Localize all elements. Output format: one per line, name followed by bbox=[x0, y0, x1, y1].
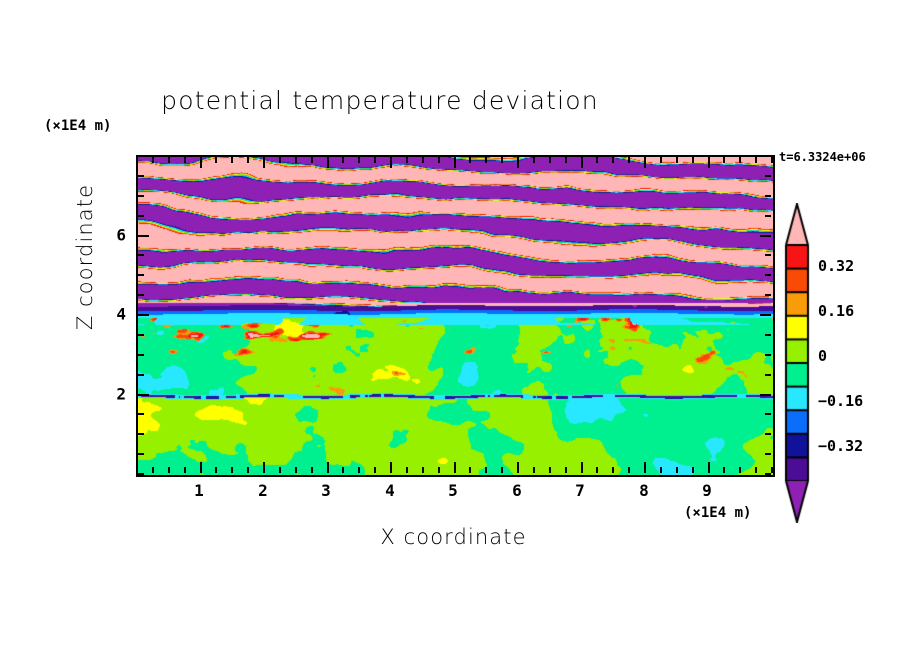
y-tick-major bbox=[760, 235, 771, 237]
x-tick-major bbox=[200, 157, 202, 168]
x-tick-minor bbox=[533, 157, 535, 163]
x-tick-major bbox=[327, 157, 329, 168]
colorbar-gradient bbox=[783, 203, 823, 523]
y-axis-unit-label: (×1E4 m) bbox=[44, 118, 111, 134]
x-tick-minor bbox=[279, 157, 281, 163]
x-tick-minor bbox=[723, 157, 725, 163]
x-tick-minor bbox=[612, 157, 614, 163]
x-tick-minor bbox=[168, 467, 170, 473]
y-tick-minor bbox=[138, 274, 144, 276]
x-tick-label: 2 bbox=[258, 481, 268, 500]
x-tick-minor bbox=[152, 157, 154, 163]
x-tick-major bbox=[517, 462, 519, 473]
x-tick-minor bbox=[406, 467, 408, 473]
x-tick-minor bbox=[628, 157, 630, 163]
x-tick-minor bbox=[676, 467, 678, 473]
x-tick-minor bbox=[152, 467, 154, 473]
x-tick-minor bbox=[184, 467, 186, 473]
x-tick-minor bbox=[660, 157, 662, 163]
x-tick-minor bbox=[692, 467, 694, 473]
x-tick-minor bbox=[676, 157, 678, 163]
x-tick-minor bbox=[501, 157, 503, 163]
x-tick-major bbox=[708, 462, 710, 473]
x-tick-minor bbox=[485, 467, 487, 473]
x-tick-minor bbox=[215, 467, 217, 473]
x-tick-label: 4 bbox=[385, 481, 395, 500]
y-tick-label: 6 bbox=[108, 226, 126, 245]
x-tick-minor bbox=[739, 157, 741, 163]
y-tick-major bbox=[760, 314, 771, 316]
x-tick-minor bbox=[231, 467, 233, 473]
y-tick-minor bbox=[765, 413, 771, 415]
y-tick-major bbox=[138, 314, 149, 316]
x-tick-minor bbox=[501, 467, 503, 473]
x-tick-minor bbox=[565, 467, 567, 473]
x-tick-major bbox=[708, 157, 710, 168]
y-tick-minor bbox=[765, 254, 771, 256]
x-tick-minor bbox=[565, 157, 567, 163]
x-tick-minor bbox=[422, 467, 424, 473]
x-tick-major bbox=[390, 157, 392, 168]
x-tick-label: 3 bbox=[321, 481, 331, 500]
x-tick-major bbox=[644, 157, 646, 168]
y-tick-minor bbox=[138, 354, 144, 356]
x-tick-minor bbox=[755, 467, 757, 473]
colorbar-tick-label: 0.16 bbox=[818, 302, 854, 320]
x-tick-minor bbox=[295, 157, 297, 163]
x-tick-major bbox=[644, 462, 646, 473]
x-tick-minor bbox=[692, 157, 694, 163]
x-axis-title: X coordinate bbox=[136, 525, 771, 549]
x-tick-minor bbox=[771, 157, 773, 163]
x-tick-minor bbox=[612, 467, 614, 473]
x-tick-minor bbox=[295, 467, 297, 473]
x-tick-minor bbox=[374, 467, 376, 473]
y-tick-minor bbox=[138, 215, 144, 217]
x-tick-minor bbox=[723, 467, 725, 473]
x-tick-minor bbox=[596, 157, 598, 163]
y-tick-minor bbox=[138, 374, 144, 376]
page-title: potential temperature deviation bbox=[0, 86, 760, 115]
y-tick-minor bbox=[138, 195, 144, 197]
x-tick-minor bbox=[771, 467, 773, 473]
x-tick-label: 9 bbox=[702, 481, 712, 500]
x-tick-minor bbox=[549, 467, 551, 473]
y-tick-major bbox=[138, 235, 149, 237]
x-tick-label: 5 bbox=[448, 481, 458, 500]
x-tick-minor bbox=[231, 157, 233, 163]
y-tick-label: 2 bbox=[108, 385, 126, 404]
y-tick-minor bbox=[765, 433, 771, 435]
x-tick-label: 7 bbox=[575, 481, 585, 500]
x-tick-minor bbox=[374, 157, 376, 163]
y-tick-minor bbox=[138, 155, 144, 157]
x-tick-minor bbox=[596, 467, 598, 473]
x-tick-minor bbox=[358, 467, 360, 473]
x-tick-minor bbox=[406, 157, 408, 163]
x-tick-minor bbox=[311, 157, 313, 163]
x-tick-major bbox=[581, 462, 583, 473]
x-tick-major bbox=[263, 157, 265, 168]
x-tick-minor bbox=[358, 157, 360, 163]
colorbar-tick-label: −0.16 bbox=[818, 392, 863, 410]
y-axis-title: Z coordinate bbox=[73, 157, 97, 357]
x-tick-minor bbox=[755, 157, 757, 163]
y-tick-minor bbox=[765, 294, 771, 296]
x-axis-unit-label: (×1E4 m) bbox=[684, 505, 751, 521]
x-tick-minor bbox=[485, 157, 487, 163]
x-tick-minor bbox=[739, 467, 741, 473]
x-tick-minor bbox=[247, 157, 249, 163]
time-stamp-label: t=6.3324e+06 bbox=[779, 150, 866, 164]
y-tick-minor bbox=[765, 473, 771, 475]
x-tick-minor bbox=[438, 157, 440, 163]
x-tick-minor bbox=[215, 157, 217, 163]
x-tick-label: 6 bbox=[512, 481, 522, 500]
x-tick-minor bbox=[660, 467, 662, 473]
colorbar bbox=[783, 203, 823, 527]
y-tick-minor bbox=[765, 354, 771, 356]
contour-plot-figure: potential temperature deviation (×1E4 m)… bbox=[0, 0, 904, 654]
colorbar-tick-label: 0 bbox=[818, 347, 827, 365]
y-tick-minor bbox=[138, 433, 144, 435]
y-tick-major bbox=[760, 394, 771, 396]
x-tick-label: 1 bbox=[194, 481, 204, 500]
x-tick-minor bbox=[549, 157, 551, 163]
x-tick-minor bbox=[311, 467, 313, 473]
x-tick-minor bbox=[168, 157, 170, 163]
y-tick-minor bbox=[138, 473, 144, 475]
x-tick-minor bbox=[342, 467, 344, 473]
colorbar-tick-label: 0.32 bbox=[818, 257, 854, 275]
x-tick-minor bbox=[438, 467, 440, 473]
colorbar-tick-label: −0.32 bbox=[818, 437, 863, 455]
y-tick-minor bbox=[765, 175, 771, 177]
y-tick-minor bbox=[138, 254, 144, 256]
x-tick-label: 8 bbox=[639, 481, 649, 500]
y-tick-major bbox=[138, 394, 149, 396]
x-tick-minor bbox=[247, 467, 249, 473]
x-tick-minor bbox=[136, 157, 138, 163]
x-tick-major bbox=[327, 462, 329, 473]
x-tick-major bbox=[454, 157, 456, 168]
y-tick-minor bbox=[765, 453, 771, 455]
x-tick-minor bbox=[628, 467, 630, 473]
plot-area bbox=[136, 155, 775, 477]
x-tick-minor bbox=[184, 157, 186, 163]
y-tick-minor bbox=[765, 274, 771, 276]
y-tick-minor bbox=[138, 413, 144, 415]
y-tick-minor bbox=[765, 334, 771, 336]
contour-field bbox=[138, 157, 773, 475]
x-tick-major bbox=[390, 462, 392, 473]
y-tick-minor bbox=[138, 334, 144, 336]
x-tick-minor bbox=[533, 467, 535, 473]
x-tick-minor bbox=[469, 467, 471, 473]
y-tick-minor bbox=[138, 294, 144, 296]
y-tick-minor bbox=[765, 195, 771, 197]
y-tick-minor bbox=[138, 453, 144, 455]
x-tick-major bbox=[454, 462, 456, 473]
y-tick-minor bbox=[138, 175, 144, 177]
x-tick-major bbox=[581, 157, 583, 168]
x-tick-major bbox=[263, 462, 265, 473]
x-tick-minor bbox=[342, 157, 344, 163]
x-tick-major bbox=[200, 462, 202, 473]
y-tick-label: 4 bbox=[108, 305, 126, 324]
y-tick-minor bbox=[765, 215, 771, 217]
x-tick-minor bbox=[469, 157, 471, 163]
y-tick-minor bbox=[765, 374, 771, 376]
x-tick-minor bbox=[422, 157, 424, 163]
x-tick-major bbox=[517, 157, 519, 168]
y-tick-minor bbox=[765, 155, 771, 157]
x-tick-minor bbox=[279, 467, 281, 473]
